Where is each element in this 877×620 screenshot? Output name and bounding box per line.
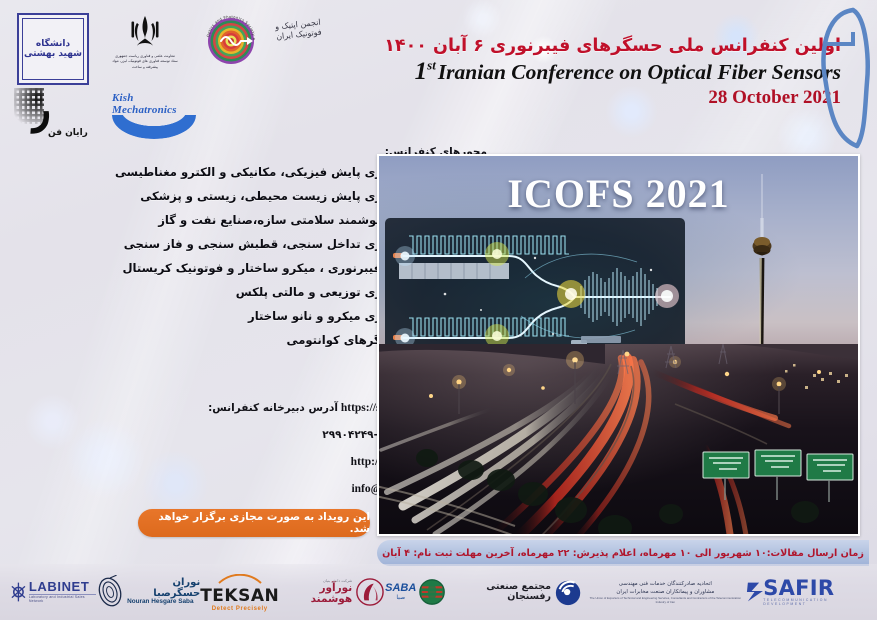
conference-ordinal: 1st — [415, 58, 436, 85]
conference-poster: دانشگاه شهید بهشتی معاونت علمی و فناوری … — [0, 0, 877, 620]
sponsor-logo-bar-bottom: LABINET Laboratory and Industrial Sales … — [0, 564, 877, 620]
opsi-rainbow-icon: Optics and Photonics Society of Iran — [199, 8, 263, 70]
nouran-spiral-icon — [96, 575, 124, 609]
society-calligraphy-logo: انجمن اپتیک و فوتونیک ایران — [268, 12, 328, 68]
kish-mechatronics-label: Kish Mechatronics — [112, 92, 198, 116]
rayan-fan-label: رایان فن — [48, 128, 88, 138]
sponsor-engineering-services-union: اتحادیه صادرکنندگان خدمات فنی مهندسی مشا… — [554, 570, 746, 614]
sbu-logo: دانشگاه شهید بهشتی — [17, 13, 89, 85]
teksan-text: TEKSAN Detect Precisely — [200, 572, 279, 613]
sponsor-teksan: TEKSAN Detect Precisely — [200, 570, 279, 614]
sponsor-safir: SAFIR TELECOMMUNICATION DEVELOPMENT — [746, 570, 867, 614]
iran-emblem-icon — [125, 14, 165, 52]
rafsanjan-mark-icon — [418, 577, 446, 607]
conference-title-en: Iranian Conference on Optical Fiber Sens… — [438, 60, 841, 84]
rafsanjan-text: مجتمع صنعتی رفسنجان — [446, 582, 551, 602]
rafsanjan-name-fa: مجتمع صنعتی رفسنجان — [446, 582, 551, 602]
sponsor-majtame-sanati-rafsanjan: مجتمع صنعتی رفسنجان — [418, 570, 554, 614]
nooravar-mark-icon — [355, 576, 385, 608]
sbu-logo-text: دانشگاه شهید بهشتی — [22, 18, 84, 80]
nooravar-text: شرکت دانش بنیان نورآور هوشمند — [279, 579, 352, 605]
teksan-arc-icon — [217, 574, 263, 584]
conference-ordinal-suffix: st — [427, 58, 436, 73]
tehran-highway-night-scene — [379, 344, 858, 534]
teksan-name: TEKSAN — [200, 588, 279, 606]
contact-address-label: آدرس دبیرخانه کنفرانس: — [208, 402, 338, 414]
society-calligraphy-text: انجمن اپتیک و فوتونیک ایران — [267, 9, 330, 43]
opsi-logo: Optics and Photonics Society of Iran — [199, 8, 263, 70]
conference-title-fa: اولین کنفرانس ملی حسگرهای فیبرنوری ۶ آبا… — [361, 36, 841, 56]
iran-emblem-logo: معاونت علمی و فناوری ریاست جمهوری ستاد ت… — [112, 14, 178, 74]
sponsor-nouran-hesgare-saba: نوران حسگرصبا Nouran Hesgare Saba — [96, 570, 200, 614]
nouran-name-en: Nouran Hesgare Saba — [127, 599, 200, 606]
labinet-name: LABINET — [29, 580, 96, 594]
safir-name: SAFIR — [763, 577, 867, 599]
labinet-mark-icon — [10, 581, 27, 603]
sponsor-nooravar-houshmand: شرکت دانش بنیان نورآور هوشمند — [279, 570, 385, 614]
decorative-bracket-icon — [809, 4, 871, 154]
union-name-fa: اتحادیه صادرکنندگان خدمات فنی مهندسی مشا… — [585, 580, 745, 596]
sponsor-labinet: LABINET Laboratory and Industrial Sales … — [10, 570, 96, 614]
main-visual-panel: ICOFS 2021 — [377, 154, 860, 536]
highway-signs — [703, 450, 853, 502]
rayan-fan-logo: ر رایان فن — [14, 88, 90, 140]
nooravar-name-fa: نورآور هوشمند — [279, 583, 352, 605]
labinet-tagline: Laboratory and Industrial Sales Network — [29, 594, 96, 604]
kish-mechatronics-logo: Kish Mechatronics — [112, 92, 198, 136]
nouran-name-fa: نوران حسگرصبا — [127, 578, 200, 599]
saba-text: SABA صبا — [385, 583, 416, 601]
kish-mechatronics-swoosh-icon — [112, 115, 196, 139]
saba-name-en: SABA — [385, 583, 416, 595]
labinet-text: LABINET Laboratory and Industrial Sales … — [29, 580, 96, 603]
sponsor-logo-bar-top: دانشگاه شهید بهشتی معاونت علمی و فناوری … — [0, 0, 420, 148]
safir-text: SAFIR TELECOMMUNICATION DEVELOPMENT — [763, 577, 867, 606]
nouran-text: نوران حسگرصبا Nouran Hesgare Saba — [127, 578, 200, 606]
sbu-logo-frame: دانشگاه شهید بهشتی — [17, 13, 89, 85]
poster-header: اولین کنفرانس ملی حسگرهای فیبرنوری ۶ آبا… — [361, 36, 841, 109]
saba-name-fa: صبا — [385, 595, 416, 601]
conference-date-en: 28 October 2021 — [361, 87, 841, 109]
safir-tagline: TELECOMMUNICATION DEVELOPMENT — [763, 599, 867, 606]
teksan-tagline: Detect Precisely — [200, 606, 279, 612]
union-name-en: The Union of Exporters of Technical and … — [585, 596, 745, 604]
virtual-event-badge: این رویداد به صورت مجازی برگزار خواهد شد… — [138, 509, 370, 537]
highway-light-trails — [379, 344, 858, 534]
rayan-fan-mark-icon: ر — [32, 90, 53, 127]
icofs-title: ICOFS 2021 — [379, 170, 858, 217]
union-globe-icon — [554, 577, 582, 607]
sponsor-saba: SABA صبا — [385, 570, 418, 614]
important-dates-bar: زمان ارسال مقالات:۱۰ شهریور الی ۱۰ مهرما… — [377, 540, 869, 566]
iran-emblem-caption: معاونت علمی و فناوری ریاست جمهوری ستاد ت… — [112, 54, 178, 70]
union-text: اتحادیه صادرکنندگان خدمات فنی مهندسی مشا… — [585, 580, 745, 604]
conference-title-en-row: 1stIranian Conference on Optical Fiber S… — [361, 58, 841, 86]
